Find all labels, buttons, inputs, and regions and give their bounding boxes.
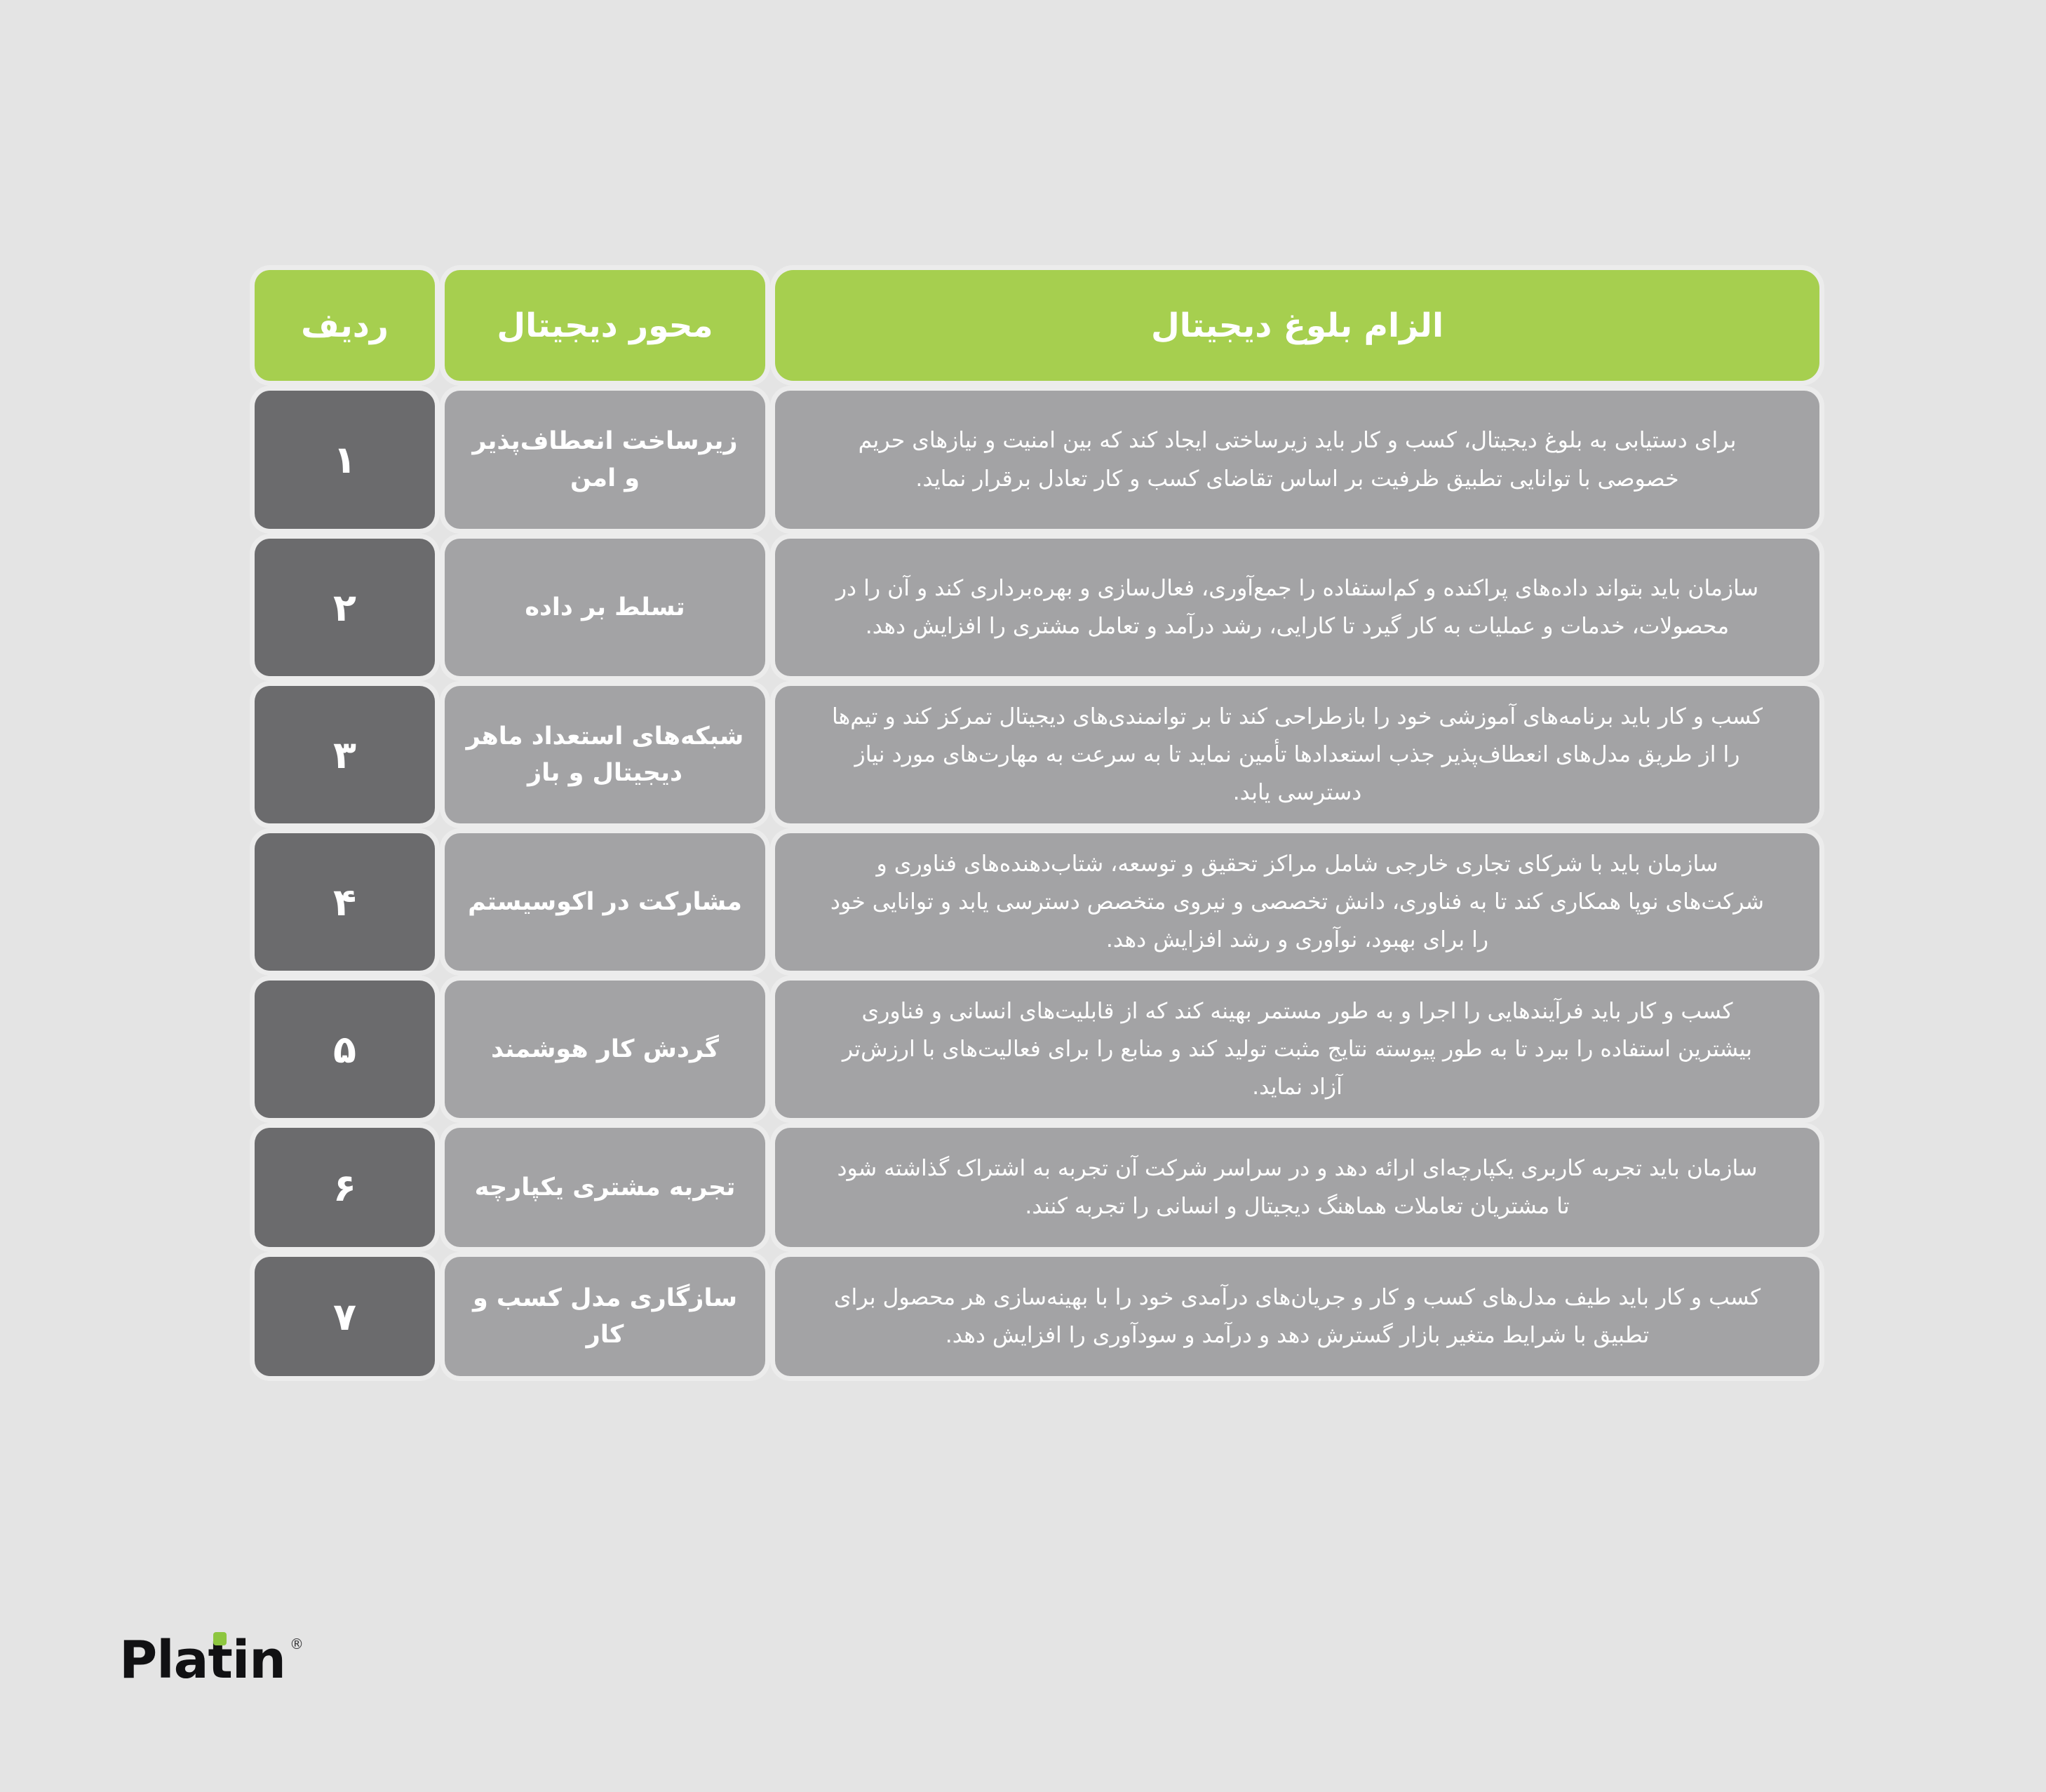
registered-trademark-icon: ® bbox=[290, 1637, 304, 1651]
header-label-axis: محور دیجیتال bbox=[497, 306, 713, 345]
row-number-cell: ۵ bbox=[255, 981, 435, 1118]
requirement-text: کسب و کار باید فرآیندهایی را اجرا و به ط… bbox=[828, 992, 1768, 1107]
row-number: ۷ bbox=[333, 1295, 356, 1339]
requirement-text: سازمان باید بتواند داده‌های پراکنده و کم… bbox=[828, 570, 1768, 645]
axis-cell: سازگاری مدل کسب و کار bbox=[445, 1257, 765, 1376]
requirement-cell: کسب و کار باید فرآیندهایی را اجرا و به ط… bbox=[775, 981, 1819, 1118]
axis-label: مشارکت در اکوسیستم bbox=[468, 884, 742, 921]
logo-wordmark: Platin bbox=[119, 1634, 285, 1686]
requirement-text: برای دستیابی به بلوغ دیجیتال، کسب و کار … bbox=[828, 422, 1768, 497]
requirement-cell: سازمان باید با شرکای تجاری خارجی شامل مر… bbox=[775, 833, 1819, 971]
row-number: ۳ bbox=[333, 733, 356, 777]
table-row: سازمان باید بتواند داده‌های پراکنده و کم… bbox=[234, 539, 1819, 676]
row-number: ۴ bbox=[333, 880, 356, 924]
axis-label: سازگاری مدل کسب و کار bbox=[466, 1280, 744, 1354]
header-cell-axis: محور دیجیتال bbox=[445, 270, 765, 381]
row-number-cell: ۱ bbox=[255, 391, 435, 529]
requirement-cell: سازمان باید تجربه کاربری یکپارچه‌ای ارائ… bbox=[775, 1128, 1819, 1247]
row-number: ۵ bbox=[333, 1028, 356, 1072]
row-number-cell: ۴ bbox=[255, 833, 435, 971]
header-cell-requirement: الزام بلوغ دیجیتال bbox=[775, 270, 1819, 381]
axis-label: گردش کار هوشمند bbox=[491, 1031, 719, 1068]
requirement-text: سازمان باید با شرکای تجاری خارجی شامل مر… bbox=[828, 845, 1768, 959]
row-number: ۱ bbox=[333, 438, 356, 482]
axis-label: زیرساخت انعطاف‌پذیر و امن bbox=[466, 423, 744, 497]
infographic-page: الزام بلوغ دیجیتال محور دیجیتال ردیف برا… bbox=[0, 0, 2046, 1792]
requirement-text: کسب و کار باید برنامه‌های آموزشی خود را … bbox=[828, 698, 1768, 812]
axis-label: تجربه مشتری یکپارچه bbox=[475, 1169, 736, 1206]
requirement-cell: کسب و کار باید برنامه‌های آموزشی خود را … bbox=[775, 686, 1819, 823]
table-header-row: الزام بلوغ دیجیتال محور دیجیتال ردیف bbox=[234, 270, 1819, 381]
axis-cell: تجربه مشتری یکپارچه bbox=[445, 1128, 765, 1247]
axis-cell: گردش کار هوشمند bbox=[445, 981, 765, 1118]
header-label-row-number: ردیف bbox=[301, 306, 389, 345]
table-row: سازمان باید تجربه کاربری یکپارچه‌ای ارائ… bbox=[234, 1128, 1819, 1247]
requirement-text: کسب و کار باید طیف مدل‌های کسب و کار و ج… bbox=[828, 1279, 1768, 1354]
axis-cell: شبکه‌های استعداد ماهر دیجیتال و باز bbox=[445, 686, 765, 823]
axis-label: شبکه‌های استعداد ماهر دیجیتال و باز bbox=[466, 718, 744, 792]
row-number-cell: ۷ bbox=[255, 1257, 435, 1376]
row-number-cell: ۳ bbox=[255, 686, 435, 823]
logo-text: Platin bbox=[119, 1630, 285, 1690]
logo-green-dot-icon bbox=[213, 1632, 227, 1645]
table-row: کسب و کار باید طیف مدل‌های کسب و کار و ج… bbox=[234, 1257, 1819, 1376]
row-number: ۶ bbox=[333, 1166, 356, 1210]
requirement-text: سازمان باید تجربه کاربری یکپارچه‌ای ارائ… bbox=[828, 1150, 1768, 1225]
row-number-cell: ۶ bbox=[255, 1128, 435, 1247]
platin-logo: Platin ® bbox=[119, 1634, 304, 1686]
header-cell-row-number: ردیف bbox=[255, 270, 435, 381]
table-row: برای دستیابی به بلوغ دیجیتال، کسب و کار … bbox=[234, 391, 1819, 529]
axis-label: تسلط بر داده bbox=[525, 589, 685, 626]
axis-cell: مشارکت در اکوسیستم bbox=[445, 833, 765, 971]
requirement-cell: برای دستیابی به بلوغ دیجیتال، کسب و کار … bbox=[775, 391, 1819, 529]
requirement-cell: سازمان باید بتواند داده‌های پراکنده و کم… bbox=[775, 539, 1819, 676]
digital-maturity-table: الزام بلوغ دیجیتال محور دیجیتال ردیف برا… bbox=[234, 270, 1819, 1376]
table-row: کسب و کار باید فرآیندهایی را اجرا و به ط… bbox=[234, 981, 1819, 1118]
requirement-cell: کسب و کار باید طیف مدل‌های کسب و کار و ج… bbox=[775, 1257, 1819, 1376]
table-row: کسب و کار باید برنامه‌های آموزشی خود را … bbox=[234, 686, 1819, 823]
table-row: سازمان باید با شرکای تجاری خارجی شامل مر… bbox=[234, 833, 1819, 971]
header-label-requirement: الزام بلوغ دیجیتال bbox=[1151, 306, 1443, 345]
row-number: ۲ bbox=[333, 586, 356, 630]
axis-cell: تسلط بر داده bbox=[445, 539, 765, 676]
row-number-cell: ۲ bbox=[255, 539, 435, 676]
axis-cell: زیرساخت انعطاف‌پذیر و امن bbox=[445, 391, 765, 529]
